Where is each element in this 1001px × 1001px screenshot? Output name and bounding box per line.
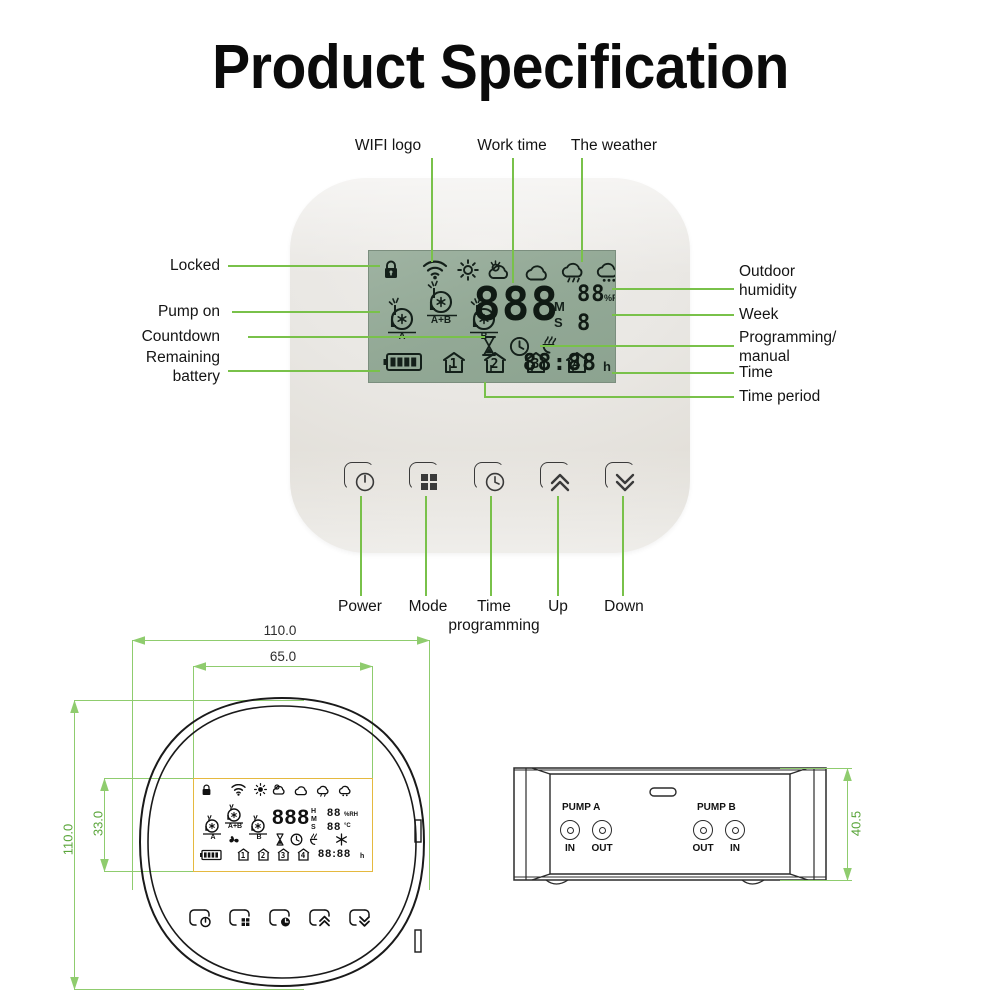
callout-power: Power [325,598,395,617]
front-view-lcd: A A+B B 888 H M S 88 %R [193,778,373,872]
rain-icon [316,785,332,797]
clock-icon [290,833,303,846]
main-value-display: 888 [473,281,559,327]
front-view-mode-button [228,908,254,935]
leader-power [360,496,362,596]
front-lcd-unit-h: H [311,808,316,815]
heat-wave-icon [308,833,320,846]
leader-time-period-vert [484,382,486,397]
dim-width-arrow-right [416,635,430,646]
pump-a-in-label: IN [560,843,580,854]
period-number: 1 [236,851,251,860]
page-title: Product Specification [40,32,961,103]
callout-programming-manual: Programming/ manual [739,329,909,366]
power-button[interactable] [344,462,378,496]
dim-depth-arrow-top [842,768,853,782]
fan-icon [227,834,241,846]
front-view-down-button [348,908,374,935]
leader-countdown [248,336,485,338]
leader-up [557,496,559,596]
period-house-4: 4 [296,847,311,867]
side-view-outline [510,764,830,889]
humidity-unit-label: %RH [604,293,616,303]
front-lcd-time-unit: h [360,853,364,860]
leader-locked [228,265,380,267]
double-chevron-up-icon [548,470,572,494]
front-lcd-humidity-unit: %RH [344,812,358,818]
leader-remaining-battery [228,370,380,372]
front-lcd-main-value: 888 [272,807,310,828]
unit-seconds-label: S [554,315,563,330]
callout-pump-on: Pump on [100,303,220,322]
front-lcd-temp-value: 88 [327,822,341,833]
leader-pump-on [232,311,380,313]
callout-locked: Locked [100,257,220,276]
front-lcd-time-value: 88:88 [318,849,351,860]
down-button[interactable] [605,462,639,496]
mode-button[interactable] [409,462,443,496]
lcd-screen: A A+B [368,250,616,383]
wifi-icon [231,784,246,796]
pump-b-in-port [725,820,745,840]
front-lcd-unit-m: M [311,816,317,823]
callout-week: Week [739,306,899,325]
leader-down [622,496,624,596]
pump-ab-label: A+B [222,823,248,830]
period-house-1: 1 [236,847,251,867]
callout-remaining-battery: Remaining battery [80,349,220,386]
grid-squares-icon [420,473,438,491]
callout-up: Up [533,598,583,617]
hourglass-icon [275,833,285,846]
leader-time [612,372,734,374]
dim-lcd-width-arrow-right [359,661,373,672]
rain-icon [560,262,588,284]
period-house-3: 3 [276,847,291,867]
pump-ab-label: A+B [421,315,461,326]
double-chevron-down-icon [613,470,637,494]
pump-b-label: B [246,834,272,841]
dim-width-arrow-left [132,635,146,646]
cloudy-icon [294,785,311,796]
snowflake-icon [335,833,348,846]
time-value: 88:88 [369,352,616,375]
lock-icon [381,259,401,281]
time-unit-label: h [603,359,611,374]
leader-programming-manual [540,345,734,347]
front-lcd-humidity-value: 88 [327,808,341,819]
period-number: 3 [276,851,291,860]
pump-a-in-port [560,820,580,840]
callout-outdoor-humidity: Outdoor humidity [739,263,899,300]
leader-work-time [512,158,514,283]
pump-b-out-label: OUT [688,843,718,854]
callout-time-period: Time period [739,388,899,407]
pump-a-out-port [592,820,612,840]
dim-depth-label: 40.5 [849,802,864,846]
side-view-drawing: PUMP A IN OUT PUMP B OUT IN 40.5 [480,750,900,920]
clock-icon [485,472,505,492]
period-number: 4 [296,851,311,860]
battery-icon [200,849,224,861]
front-view-power-button [188,908,214,935]
dim-lcd-width-arrow-left [193,661,207,672]
front-lcd-temp-unit: °C [344,823,351,829]
front-view-drawing: 110.0 65.0 110.0 33.0 [60,620,480,1000]
callout-countdown: Countdown [90,328,220,347]
callout-wifi-logo: WIFI logo [338,137,438,156]
dim-width-label: 110.0 [240,623,320,638]
dim-width-line [132,640,430,641]
callout-work-time: Work time [462,137,562,156]
front-view-time-programming-button [268,908,294,935]
front-lcd-unit-s: S [311,824,316,831]
up-button[interactable] [540,462,574,496]
pump-ab-indicator: A+B [421,278,467,329]
dim-lcd-height-label: 33.0 [91,797,106,851]
pump-b-title: PUMP B [697,802,736,813]
time-programming-button[interactable] [474,462,508,496]
dim-depth-arrow-bottom [842,867,853,881]
dim-height-arrow-bottom [69,976,80,990]
lock-icon [201,784,212,796]
snow-icon [338,785,354,797]
dim-lcd-width-line [193,666,373,667]
leader-time-programming [490,496,492,596]
unit-minutes-label: M [554,299,565,314]
period-house-2: 2 [256,847,271,867]
leader-mode [425,496,427,596]
leader-wifi [431,158,433,262]
leader-time-period [484,396,734,398]
leader-outdoor-humidity [612,288,734,290]
sun-icon [254,783,267,796]
dim-lcd-height-arrow-bottom [99,858,110,872]
partly-cloudy-icon [272,783,289,796]
dim-lcd-height-arrow-top [99,778,110,792]
wifi-icon [422,260,448,280]
dim-height-label: 110.0 [61,810,76,870]
humidity-value: 88 [577,284,606,306]
leader-week [612,314,734,316]
period-number: 2 [256,851,271,860]
front-view-up-button [308,908,334,935]
snow-icon [595,262,616,284]
pump-a-label: A [200,834,226,841]
pump-b-out-port [693,820,713,840]
callout-the-weather: The weather [562,137,666,156]
leader-the-weather [581,158,583,262]
callout-down: Down [590,598,658,617]
power-icon [355,472,375,492]
pump-b-in-label: IN [725,843,745,854]
dim-lcd-width-label: 65.0 [243,649,323,664]
pump-a-out-label: OUT [587,843,617,854]
dim-height-arrow-top [69,700,80,714]
week-value: 8 [577,313,591,335]
pump-a-title: PUMP A [562,802,600,813]
callout-time: Time [739,364,899,383]
